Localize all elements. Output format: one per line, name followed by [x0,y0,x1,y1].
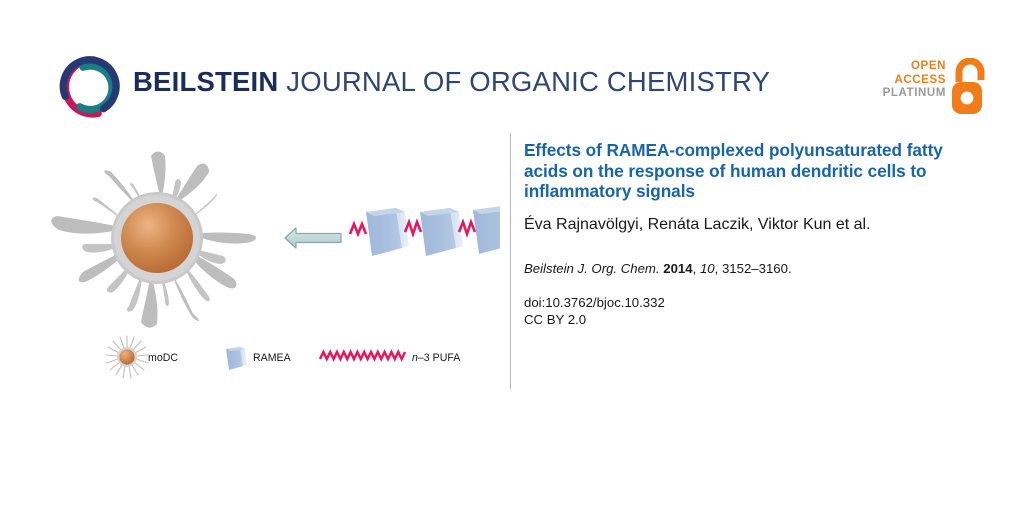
journal-wordmark-light: JOURNAL OF ORGANIC CHEMISTRY [278,66,770,97]
article-doi[interactable]: doi:10.3762/bjoc.10.332 [524,294,964,312]
article-title[interactable]: Effects of RAMEA-complexed polyunsaturat… [524,140,964,202]
legend-label-pufa-rest: –3 PUFA [418,352,460,364]
article-citation: Beilstein J. Org. Chem. 2014, 10, 3152–3… [524,261,964,277]
citation-sep-3: , [715,261,722,276]
dendritic-cell-icon [51,152,256,328]
journal-wordmark: BEILSTEIN JOURNAL OF ORGANIC CHEMISTRY [133,68,770,96]
citation-year: 2014 [663,261,692,276]
article-license[interactable]: CC BY 2.0 [524,311,964,329]
open-padlock-icon [950,58,990,116]
journal-wordmark-bold: BEILSTEIN [133,66,278,97]
open-access-badge[interactable]: OPEN ACCESS PLATINUM [878,58,990,120]
citation-sep-2: , [693,261,700,276]
oa-line-platinum: PLATINUM [883,87,946,101]
article-meta: Effects of RAMEA-complexed polyunsaturat… [524,140,964,329]
pufa-zigzag-icon [320,352,405,359]
masthead: BEILSTEIN JOURNAL OF ORGANIC CHEMISTRY O… [0,0,1024,132]
citation-volume: 10 [700,261,715,276]
oa-line-access: ACCESS [883,74,946,88]
legend-label-pufa: n–3 PUFA [412,353,460,364]
ramea-cone-icon [226,347,247,370]
left-arrow-icon [285,228,341,248]
modc-cell-icon [106,336,148,378]
legend-label-ramea: RAMEA [253,353,291,364]
article-authors: Éva Rajnavölgyi, Renáta Laczik, Viktor K… [524,215,964,234]
citation-journal: Beilstein J. Org. Chem. [524,261,660,276]
column-divider [510,133,511,389]
ramea-pufa-complex-icon [350,206,500,256]
legend-label-modc: moDC [148,353,178,364]
open-access-label: OPEN ACCESS PLATINUM [883,60,946,101]
citation-pages: 3152–3160. [722,261,792,276]
oa-line-open: OPEN [883,60,946,74]
beilstein-ring-logo[interactable] [56,54,122,120]
graphical-abstract: moDC RAMEA n–3 PUFA [20,150,500,395]
